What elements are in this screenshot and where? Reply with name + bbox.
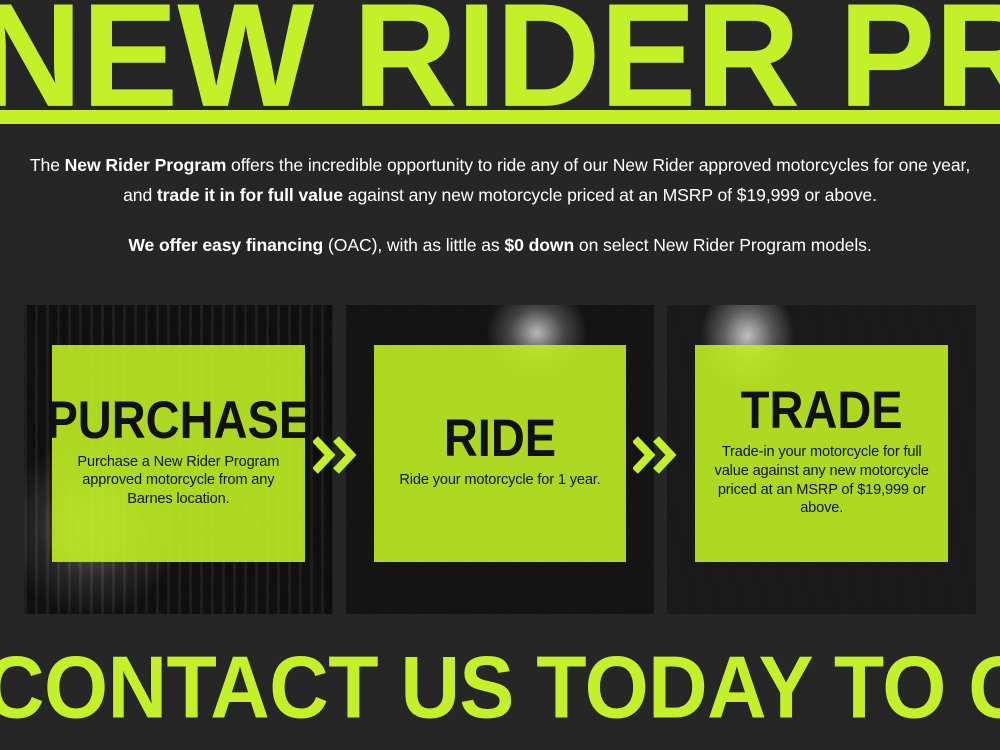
intro-paragraph-2: We offer easy financing (OAC), with as l… [0,231,1000,259]
step-panel-ride: RIDE Ride your motorcycle for 1 year. [374,345,627,562]
intro-paragraph-1: The New Rider Program offers the incredi… [0,150,1000,210]
step-card-ride: RIDE Ride your motorcycle for 1 year. [346,305,655,614]
intro-p2-seg1: (OAC), with as little as [323,235,504,255]
step-title-trade: TRADE [741,382,903,438]
step-card-trade: TRADE Trade-in your motorcycle for full … [667,305,976,614]
intro-p1-bold1: New Rider Program [65,155,227,175]
intro-p2-bold2: $0 down [504,235,574,255]
step-body-purchase: Purchase a New Rider Program approved mo… [64,453,292,509]
step-title-purchase: PURCHASE [46,392,310,448]
step-body-ride: Ride your motorcycle for 1 year. [399,471,600,490]
intro-p2-bold1: We offer easy financing [128,235,323,255]
intro-p1-bold2: trade it in for full value [157,185,343,205]
step-card-purchase: PURCHASE Purchase a New Rider Program ap… [24,305,333,614]
footer-cta-text: CONTACT US TODAY TO GET STARTED [0,637,1000,750]
steps-row: PURCHASE Purchase a New Rider Program ap… [24,305,976,614]
step-body-trade: Trade-in your motorcycle for full value … [708,443,936,517]
step-panel-purchase: PURCHASE Purchase a New Rider Program ap… [52,345,305,562]
page-title: NEW RIDER PROGRAM [0,0,1000,124]
intro-copy: The New Rider Program offers the incredi… [0,150,1000,259]
intro-p1-seg3: against any new motorcycle priced at an … [343,185,877,205]
intro-p1-seg1: The [30,155,65,175]
new-rider-program-poster: NEW RIDER PROGRAM The New Rider Program … [0,0,1000,750]
footer-cta-band: CONTACT US TODAY TO GET STARTED [0,637,1000,750]
step-panel-trade: TRADE Trade-in your motorcycle for full … [695,345,948,562]
headline-banner: NEW RIDER PROGRAM [0,0,1000,124]
step-title-ride: RIDE [444,410,556,466]
intro-p2-seg2: on select New Rider Program models. [574,235,872,255]
